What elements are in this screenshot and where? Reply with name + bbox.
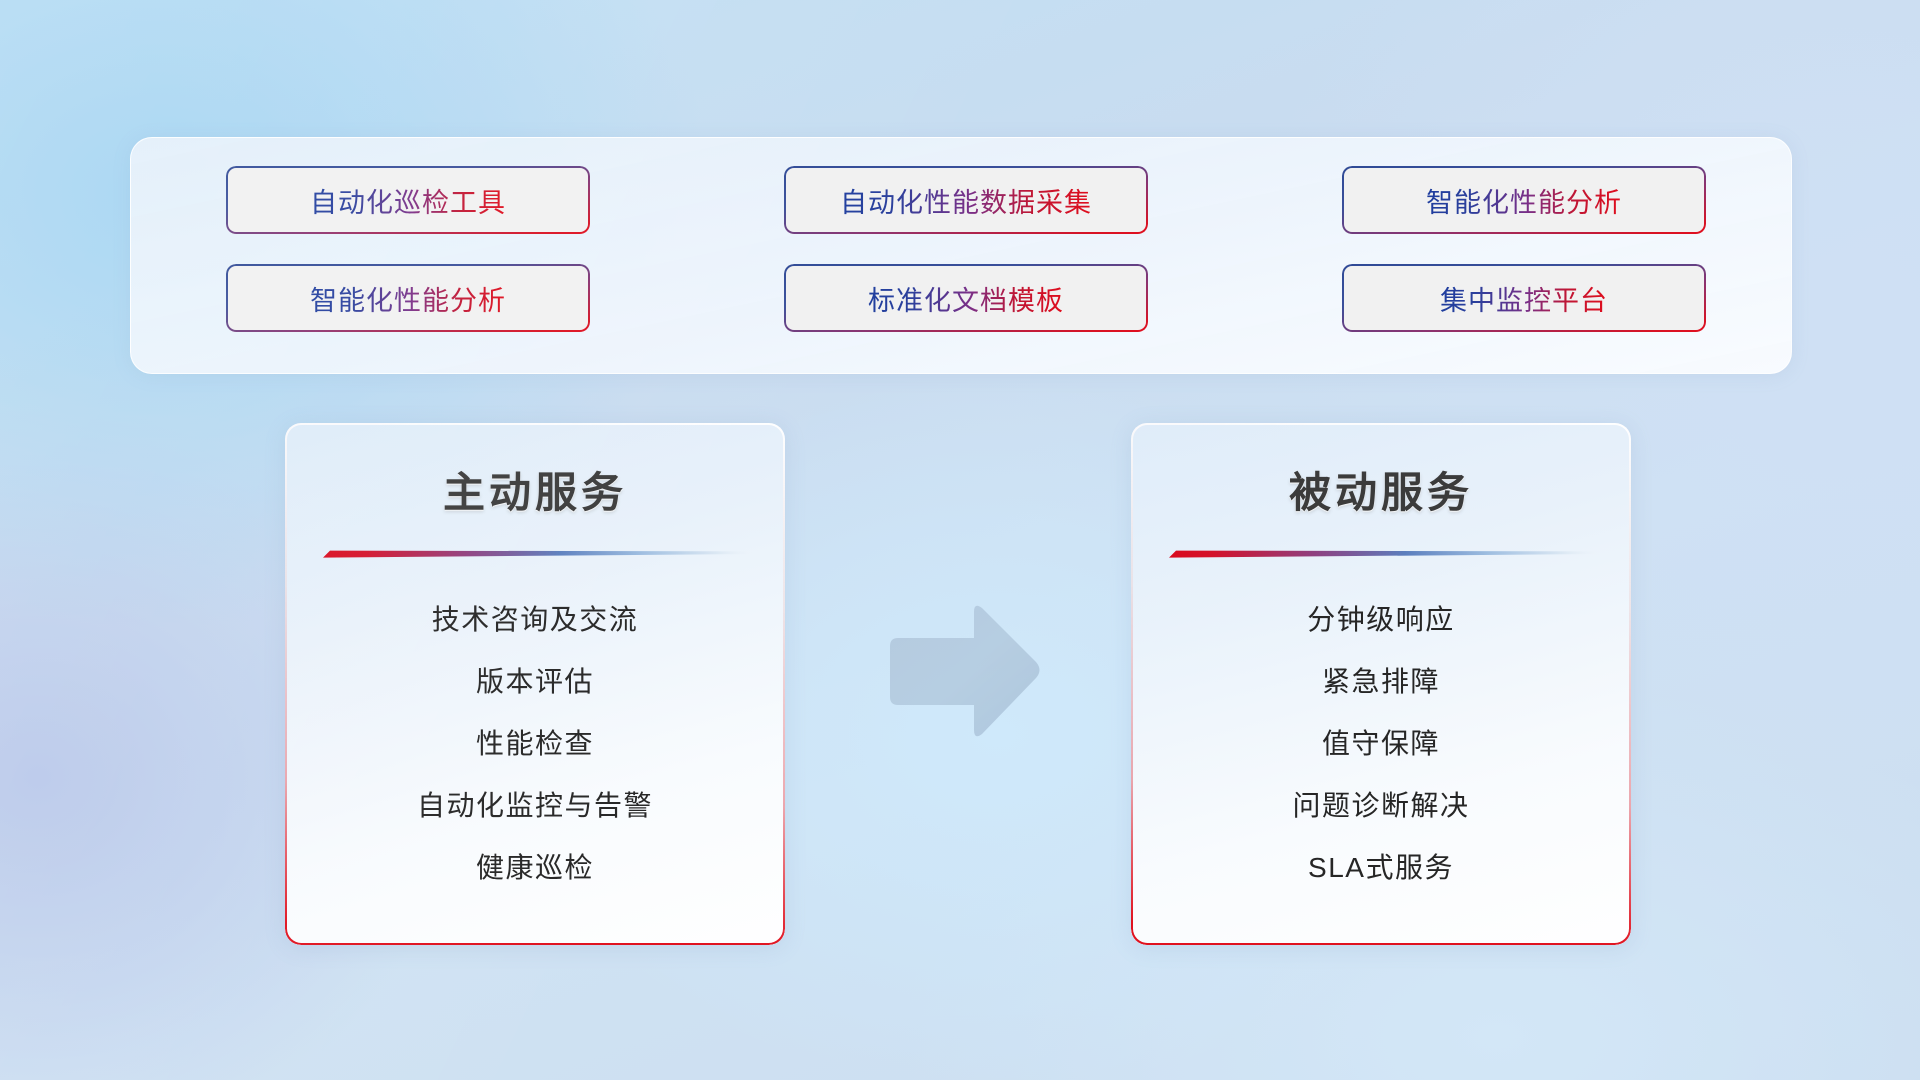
- capability-chip-label: 自动化性能数据采集: [840, 181, 1092, 220]
- list-item: 分钟级响应: [1131, 589, 1631, 651]
- capability-panel: 自动化巡检工具 自动化性能数据采集 智能化性能分析 智能化性能分析 标准化文档模…: [130, 137, 1792, 374]
- capability-chip-label: 自动化巡检工具: [310, 181, 506, 220]
- capability-chip-grid: 自动化巡检工具 自动化性能数据采集 智能化性能分析 智能化性能分析 标准化文档模…: [226, 166, 1706, 332]
- capability-chip[interactable]: 集中监控平台: [1342, 264, 1706, 332]
- list-item: 紧急排障: [1131, 651, 1631, 713]
- list-item: 健康巡检: [285, 837, 785, 899]
- arrow-right-icon: [880, 600, 1042, 745]
- capability-chip-label: 智能化性能分析: [310, 279, 506, 318]
- list-item: 性能检查: [285, 713, 785, 775]
- slide-canvas: 自动化巡检工具 自动化性能数据采集 智能化性能分析 智能化性能分析 标准化文档模…: [0, 0, 1920, 1080]
- title-divider: [321, 548, 753, 559]
- list-item: 值守保障: [1131, 713, 1631, 775]
- service-card-title: 主动服务: [285, 423, 785, 520]
- capability-chip-label: 集中监控平台: [1440, 279, 1608, 318]
- list-item: SLA式服务: [1131, 837, 1631, 899]
- list-item: 自动化监控与告警: [285, 775, 785, 837]
- capability-chip[interactable]: 标准化文档模板: [784, 264, 1148, 332]
- capability-chip[interactable]: 自动化性能数据采集: [784, 166, 1148, 234]
- list-item: 问题诊断解决: [1131, 775, 1631, 837]
- list-item: 技术咨询及交流: [285, 589, 785, 651]
- capability-chip[interactable]: 自动化巡检工具: [226, 166, 590, 234]
- capability-chip-label: 标准化文档模板: [868, 279, 1064, 318]
- service-card-active: 主动服务 技术咨询及交流 版本评估: [285, 423, 785, 945]
- service-item-list: 分钟级响应 紧急排障 值守保障 问题诊断解决 SLA式服务: [1131, 559, 1631, 899]
- service-card-passive: 被动服务 分钟级响应 紧急排障: [1131, 423, 1631, 945]
- service-card-title: 被动服务: [1131, 423, 1631, 520]
- list-item: 版本评估: [285, 651, 785, 713]
- capability-chip-label: 智能化性能分析: [1426, 181, 1622, 220]
- title-divider: [1167, 548, 1599, 559]
- service-item-list: 技术咨询及交流 版本评估 性能检查 自动化监控与告警 健康巡检: [285, 559, 785, 899]
- capability-chip[interactable]: 智能化性能分析: [226, 264, 590, 332]
- capability-chip[interactable]: 智能化性能分析: [1342, 166, 1706, 234]
